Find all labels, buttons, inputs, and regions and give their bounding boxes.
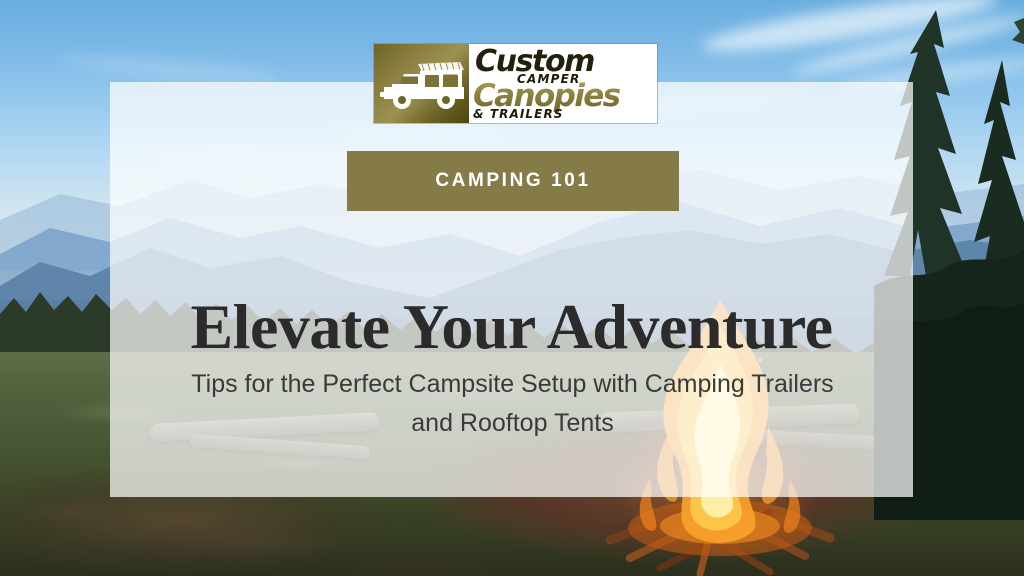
category-badge-label: CAMPING 101 (435, 170, 590, 192)
truck-with-camper-canopy-icon (374, 44, 469, 123)
brand-logo[interactable]: Custom CAMPER Canopies & TRAILERS (374, 44, 657, 123)
slide-canvas: Custom CAMPER Canopies & TRAILERS CAMPIN… (0, 0, 1024, 576)
page-subtitle: Tips for the Perfect Campsite Setup with… (175, 365, 850, 443)
logo-word-trailers: & TRAILERS (473, 108, 564, 120)
brand-logo-wordmark: Custom CAMPER Canopies & TRAILERS (469, 44, 657, 123)
page-title: Elevate Your Adventure (110, 293, 913, 360)
category-badge[interactable]: CAMPING 101 (347, 151, 679, 211)
